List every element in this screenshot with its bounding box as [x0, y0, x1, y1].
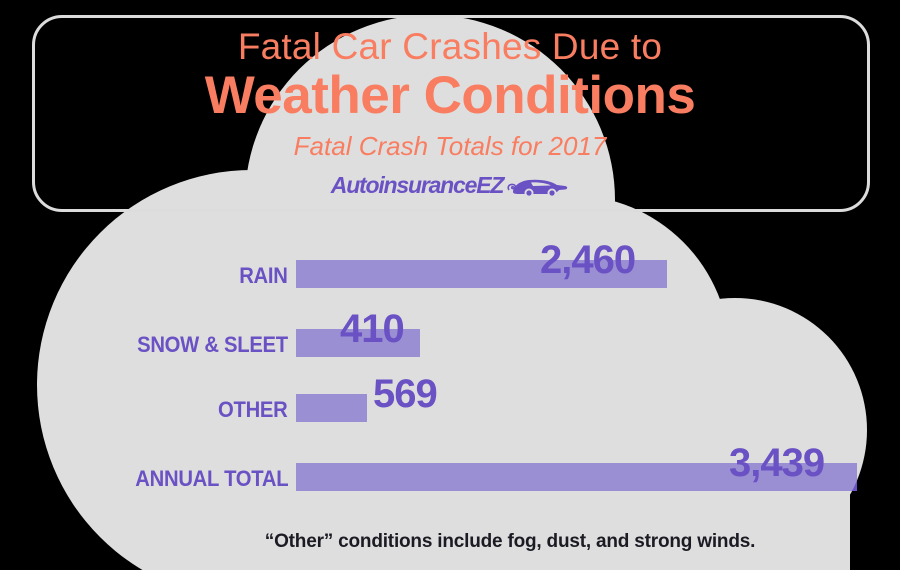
infographic-canvas: Fatal Car Crashes Due to Weather Conditi… — [0, 0, 900, 570]
bar-label-annual-total: ANNUAL TOTAL — [135, 466, 288, 492]
bar-label-rain: RAIN — [240, 263, 288, 289]
bar-label-snow-sleet: SNOW & SLEET — [137, 332, 288, 358]
bar-other — [296, 394, 367, 422]
bar-value-other: 569 — [373, 372, 437, 417]
bar-value-rain: 2,460 — [540, 238, 635, 283]
bar-value-annual-total: 3,439 — [729, 441, 824, 486]
bar-label-other: OTHER — [219, 397, 288, 423]
bar-value-snow-sleet: 410 — [340, 307, 404, 352]
footnote: “Other” conditions include fog, dust, an… — [0, 531, 900, 553]
footnote-text: “Other” conditions include fog, dust, an… — [265, 531, 755, 552]
